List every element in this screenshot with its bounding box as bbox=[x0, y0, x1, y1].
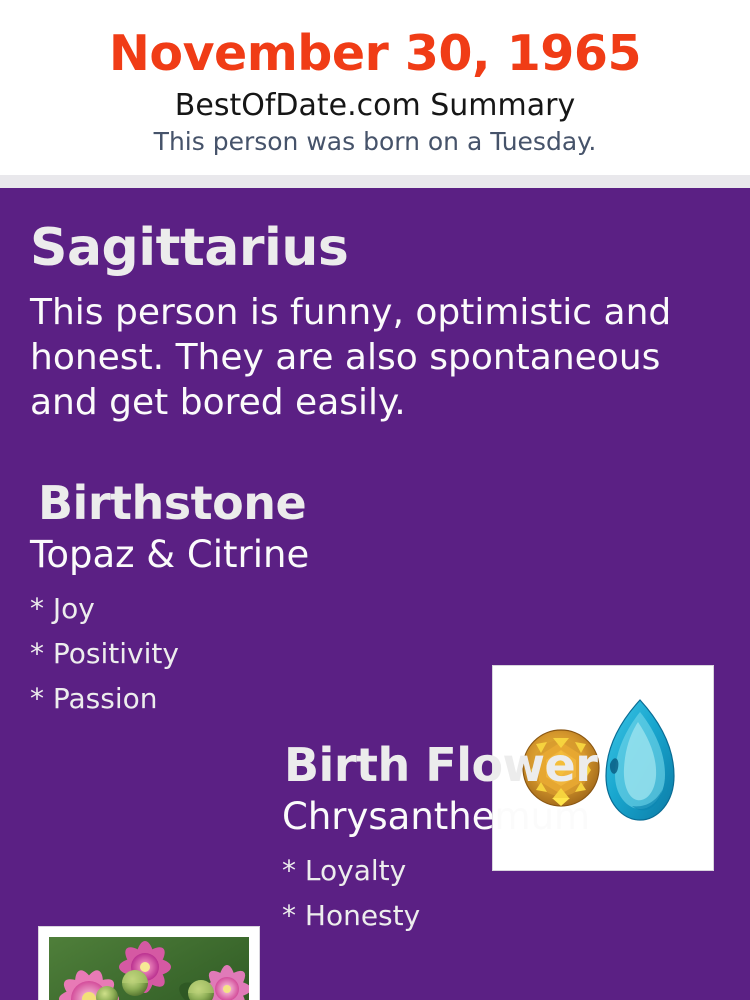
list-item: * Honesty bbox=[282, 893, 712, 938]
birth-flower-image bbox=[49, 937, 249, 1000]
list-item: * Loyalty bbox=[282, 848, 712, 893]
summary-panel: Sagittarius This person is funny, optimi… bbox=[0, 188, 750, 1000]
birthstone-heading: Birthstone bbox=[38, 476, 306, 530]
list-item: * Passion bbox=[30, 676, 460, 721]
birth-flower-image-frame bbox=[38, 926, 260, 1000]
page-title-date: November 30, 1965 bbox=[0, 24, 750, 84]
header: November 30, 1965 BestOfDate.com Summary… bbox=[0, 0, 750, 175]
weekday-note: This person was born on a Tuesday. bbox=[0, 127, 750, 157]
birth-flower-traits-list: * Loyalty * Honesty bbox=[282, 848, 712, 938]
birthstone-name: Topaz & Citrine bbox=[30, 533, 309, 577]
list-item: * Positivity bbox=[30, 631, 460, 676]
birthday-summary-card: November 30, 1965 BestOfDate.com Summary… bbox=[0, 0, 750, 1000]
site-name-subtitle: BestOfDate.com Summary bbox=[0, 88, 750, 124]
zodiac-description: This person is funny, optimistic and hon… bbox=[30, 290, 730, 425]
list-item: * Joy bbox=[30, 586, 460, 631]
zodiac-sign-title: Sagittarius bbox=[30, 218, 348, 278]
birth-flower-name: Chrysanthemum bbox=[282, 795, 590, 839]
birth-flower-heading: Birth Flower bbox=[284, 738, 597, 792]
header-divider bbox=[0, 175, 750, 188]
chrysanthemum-icon bbox=[49, 937, 249, 1000]
birthstone-traits-list: * Joy * Positivity * Passion bbox=[30, 586, 460, 721]
